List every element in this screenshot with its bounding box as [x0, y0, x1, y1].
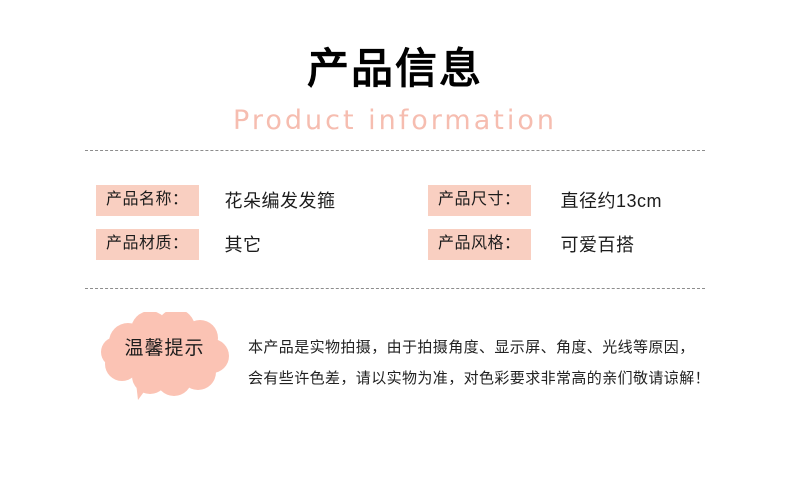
- spec-value-product-material: 其它: [225, 236, 262, 254]
- divider-bottom: [85, 288, 705, 289]
- spec-row-product-style: 产品风格： 可爱百搭: [428, 229, 635, 260]
- spec-grid: 产品名称： 花朵编发发箍 产品材质： 其它 产品尺寸： 直径约13cm 产品风格…: [0, 185, 790, 275]
- page-subtitle: Product information: [0, 104, 790, 138]
- spec-value-product-name: 花朵编发发箍: [225, 192, 336, 210]
- spec-label-product-name: 产品名称：: [96, 185, 199, 216]
- divider-top: [85, 150, 705, 151]
- page-title: 产品信息: [0, 44, 790, 94]
- tips-bubble-label: 温馨提示: [92, 338, 237, 360]
- spec-label-product-material: 产品材质：: [96, 229, 199, 260]
- spec-label-product-size: 产品尺寸：: [428, 185, 531, 216]
- spec-row-product-size: 产品尺寸： 直径约13cm: [428, 185, 662, 216]
- notice-text: 本产品是实物拍摄，由于拍摄角度、显示屏、角度、光线等原因， 会有些许色差，请以实…: [248, 332, 718, 394]
- notice-line-1: 本产品是实物拍摄，由于拍摄角度、显示屏、角度、光线等原因，: [248, 332, 718, 363]
- spec-row-product-name: 产品名称： 花朵编发发箍: [96, 185, 336, 216]
- spec-row-product-material: 产品材质： 其它: [96, 229, 262, 260]
- tips-bubble: 温馨提示: [92, 312, 237, 404]
- notice-line-2: 会有些许色差，请以实物为准，对色彩要求非常高的亲们敬请谅解！: [248, 363, 718, 394]
- spec-label-product-style: 产品风格：: [428, 229, 531, 260]
- notice-section: 温馨提示 本产品是实物拍摄，由于拍摄角度、显示屏、角度、光线等原因， 会有些许色…: [0, 310, 790, 410]
- spec-value-product-style: 可爱百搭: [561, 236, 635, 254]
- spec-value-product-size: 直径约13cm: [561, 192, 663, 210]
